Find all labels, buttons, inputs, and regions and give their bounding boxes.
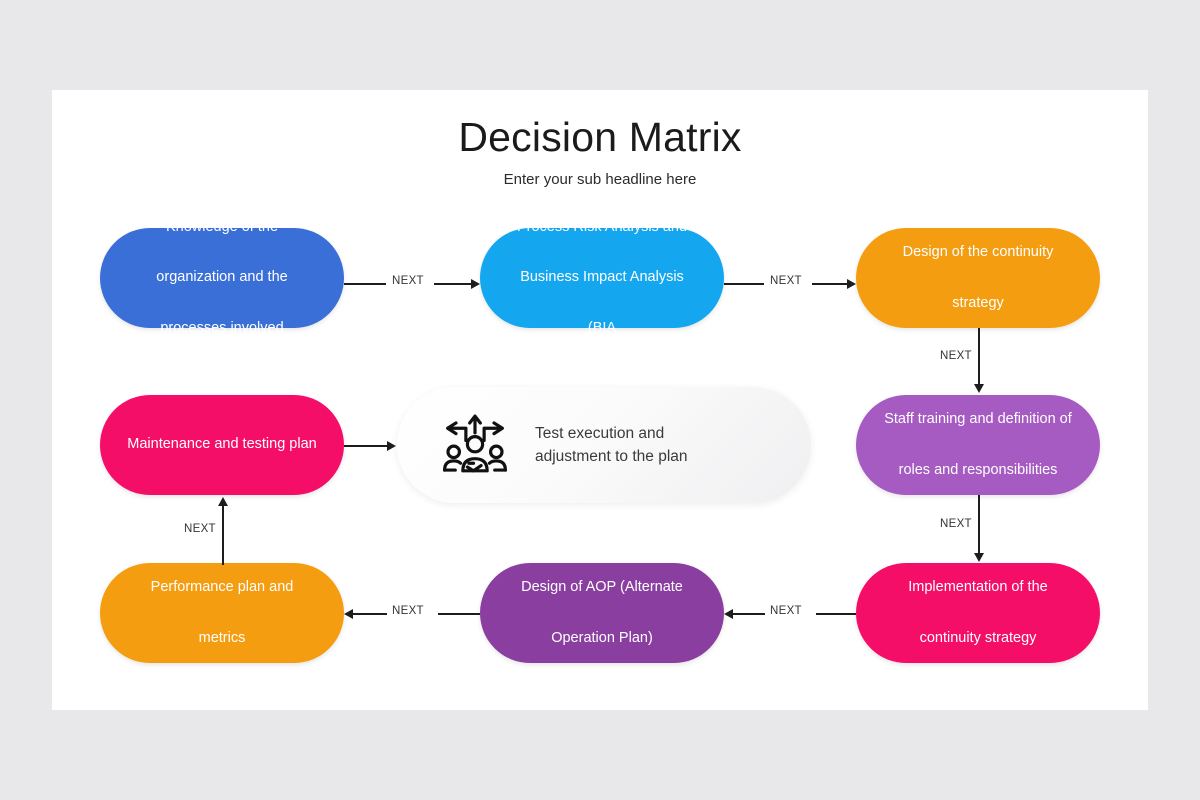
node-knowledge-line1: Knowledge of the — [122, 215, 322, 240]
connector-knowledge-to-risk: NEXT — [344, 271, 480, 295]
decision-matrix-diagram: Knowledge of the organization and the pr… — [52, 90, 1148, 710]
node-implementation-line1: Implementation of the — [878, 575, 1078, 600]
arrowhead-right-icon — [387, 441, 396, 451]
node-risk-analysis-line2: Business Impact Analysis — [502, 265, 702, 290]
arrowhead-down-icon — [974, 553, 984, 562]
arrowhead-left-icon — [344, 609, 353, 619]
connector-label-next: NEXT — [770, 605, 802, 617]
connector-risk-to-continuity: NEXT — [724, 271, 856, 295]
node-staff-training-line1: Staff training and definition of — [878, 407, 1078, 432]
connector-maintenance-to-center — [344, 437, 400, 455]
node-knowledge-line3: processes involved — [122, 316, 322, 341]
connector-continuity-to-staff: NEXT — [940, 328, 1020, 396]
connector-label-next: NEXT — [770, 275, 802, 287]
node-risk-analysis-line1: Process Risk Analysis and — [502, 215, 702, 240]
people-decision-arrows-icon — [437, 407, 513, 483]
center-card-line1: Test execution and — [535, 422, 688, 445]
connector-staff-to-implementation: NEXT — [940, 495, 1020, 565]
connector-aop-to-performance: NEXT — [344, 601, 480, 625]
node-knowledge[interactable]: Knowledge of the organization and the pr… — [100, 228, 344, 328]
node-aop-design-line1: Design of AOP (Alternate — [502, 575, 702, 600]
node-maintenance-label: Maintenance and testing plan — [122, 432, 322, 457]
connector-implementation-to-aop: NEXT — [724, 601, 856, 625]
connector-label-next: NEXT — [940, 518, 972, 530]
node-aop-design-line2: Operation Plan) — [502, 626, 702, 651]
node-staff-training-line2: roles and responsibilities — [878, 458, 1078, 483]
node-risk-analysis-line3: (BIA — [502, 316, 702, 341]
arrowhead-right-icon — [847, 279, 856, 289]
slide-canvas: Decision Matrix Enter your sub headline … — [52, 90, 1148, 710]
arrowhead-right-icon — [471, 279, 480, 289]
node-performance-plan[interactable]: Performance plan and metrics — [100, 563, 344, 663]
node-aop-design[interactable]: Design of AOP (Alternate Operation Plan) — [480, 563, 724, 663]
node-staff-training[interactable]: Staff training and definition of roles a… — [856, 395, 1100, 495]
arrowhead-down-icon — [974, 384, 984, 393]
center-card-text: Test execution and adjustment to the pla… — [535, 422, 688, 469]
node-risk-analysis[interactable]: Process Risk Analysis and Business Impac… — [480, 228, 724, 328]
node-continuity-design[interactable]: Design of the continuity strategy — [856, 228, 1100, 328]
connector-label-next: NEXT — [392, 605, 424, 617]
node-maintenance[interactable]: Maintenance and testing plan — [100, 395, 344, 495]
arrowhead-up-icon — [218, 497, 228, 506]
connector-label-next: NEXT — [184, 523, 216, 535]
connector-label-next: NEXT — [392, 275, 424, 287]
arrowhead-left-icon — [724, 609, 733, 619]
node-knowledge-line2: organization and the — [122, 265, 322, 290]
node-implementation-line2: continuity strategy — [878, 626, 1078, 651]
node-performance-plan-line1: Performance plan and — [122, 575, 322, 600]
center-card-line2: adjustment to the plan — [535, 445, 688, 468]
node-continuity-design-line1: Design of the continuity — [878, 240, 1078, 265]
node-implementation[interactable]: Implementation of the continuity strateg… — [856, 563, 1100, 663]
connector-label-next: NEXT — [940, 350, 972, 362]
connector-performance-to-maintenance: NEXT — [184, 495, 264, 565]
center-feature-card[interactable]: Test execution and adjustment to the pla… — [397, 387, 811, 503]
node-continuity-design-line2: strategy — [878, 291, 1078, 316]
node-performance-plan-line2: metrics — [122, 626, 322, 651]
